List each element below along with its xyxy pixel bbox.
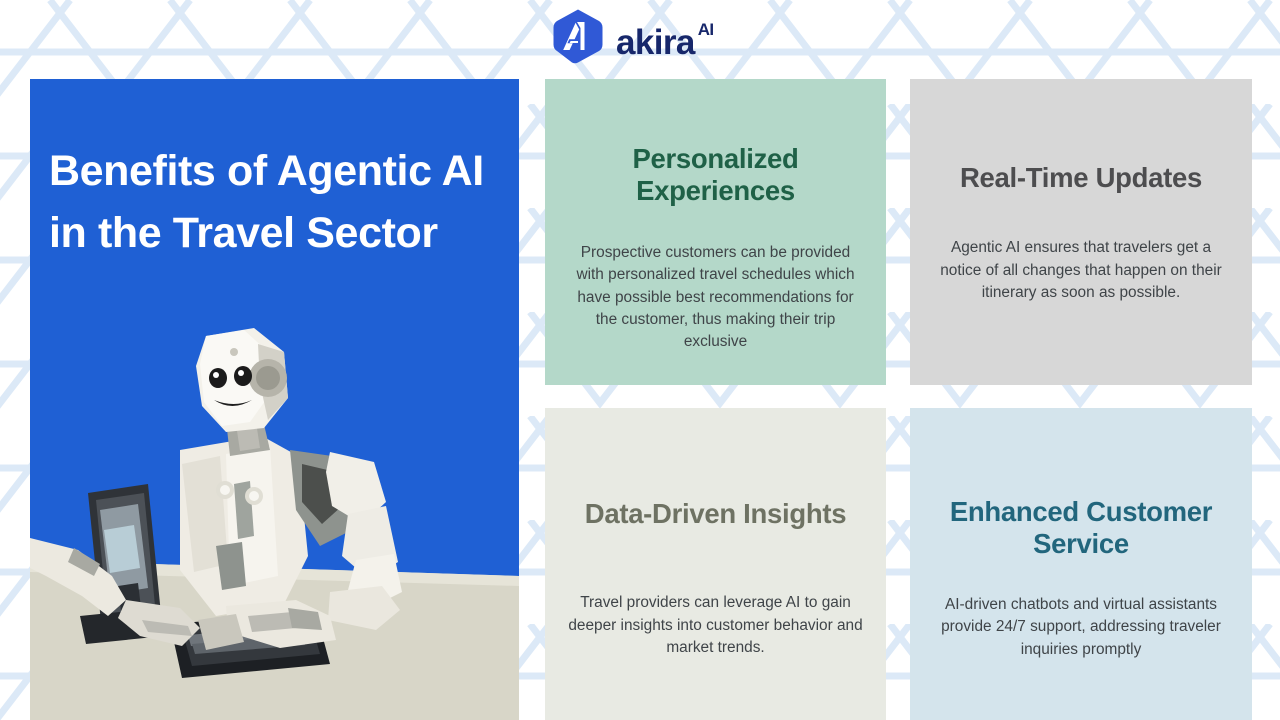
card-body: Travel providers can leverage AI to gain…	[567, 592, 864, 659]
infographic-slide: akira AI Benefits of Agentic AI in the T…	[0, 0, 1280, 720]
card-title: Real-Time Updates	[932, 162, 1230, 194]
benefit-card-personalized-experiences: Personalized Experiences Prospective cus…	[545, 79, 886, 385]
card-body: AI-driven chatbots and virtual assistant…	[932, 594, 1230, 661]
card-title: Enhanced Customer Service	[932, 496, 1230, 561]
benefit-card-real-time-updates: Real-Time Updates Agentic AI ensures tha…	[910, 79, 1252, 385]
card-title: Personalized Experiences	[567, 143, 864, 208]
page-title: Benefits of Agentic AI in the Travel Sec…	[49, 141, 489, 265]
wordmark-superscript: AI	[698, 21, 714, 38]
brand-logo: akira AI	[551, 8, 714, 64]
akira-hexagon-a-logo-icon	[551, 8, 605, 64]
card-title: Data-Driven Insights	[567, 498, 864, 530]
benefit-card-enhanced-customer-service: Enhanced Customer Service AI-driven chat…	[910, 408, 1252, 720]
card-body: Prospective customers can be provided wi…	[567, 242, 864, 354]
robot-photo	[30, 324, 519, 720]
wordmark-text: akira	[616, 25, 695, 60]
brand-wordmark: akira AI	[616, 19, 714, 54]
benefit-card-data-driven-insights: Data-Driven Insights Travel providers ca…	[545, 408, 886, 720]
card-body: Agentic AI ensures that travelers get a …	[932, 237, 1230, 304]
hero-panel: Benefits of Agentic AI in the Travel Sec…	[30, 79, 519, 720]
